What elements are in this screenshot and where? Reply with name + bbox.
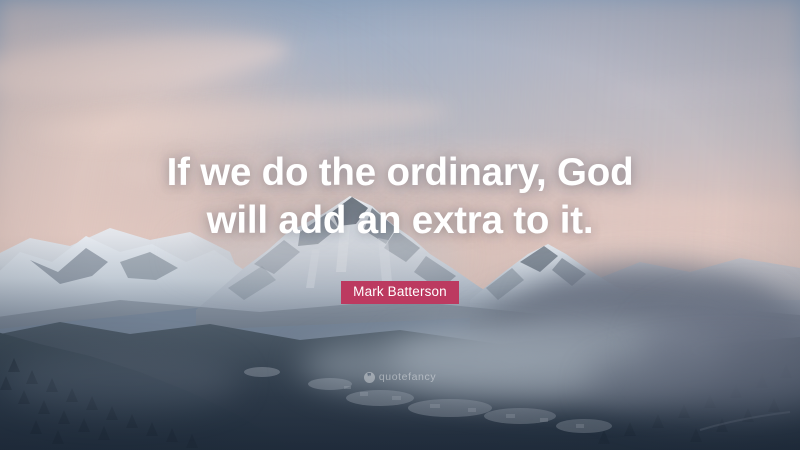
quote-line-1: If we do the ordinary, God bbox=[0, 149, 800, 197]
watermark-inner: ❞ quotefancy bbox=[364, 371, 436, 383]
quote-line-2: will add an extra to it. bbox=[0, 197, 800, 245]
watermark-brand: quotefancy bbox=[379, 371, 436, 383]
author-attribution: Mark Batterson bbox=[0, 281, 800, 304]
quote-mark-icon: ❞ bbox=[364, 372, 375, 383]
quote-poster: If we do the ordinary, God will add an e… bbox=[0, 0, 800, 450]
watermark: ❞ quotefancy bbox=[0, 366, 800, 384]
quote-text: If we do the ordinary, God will add an e… bbox=[0, 149, 800, 245]
author-name-badge: Mark Batterson bbox=[341, 281, 459, 304]
